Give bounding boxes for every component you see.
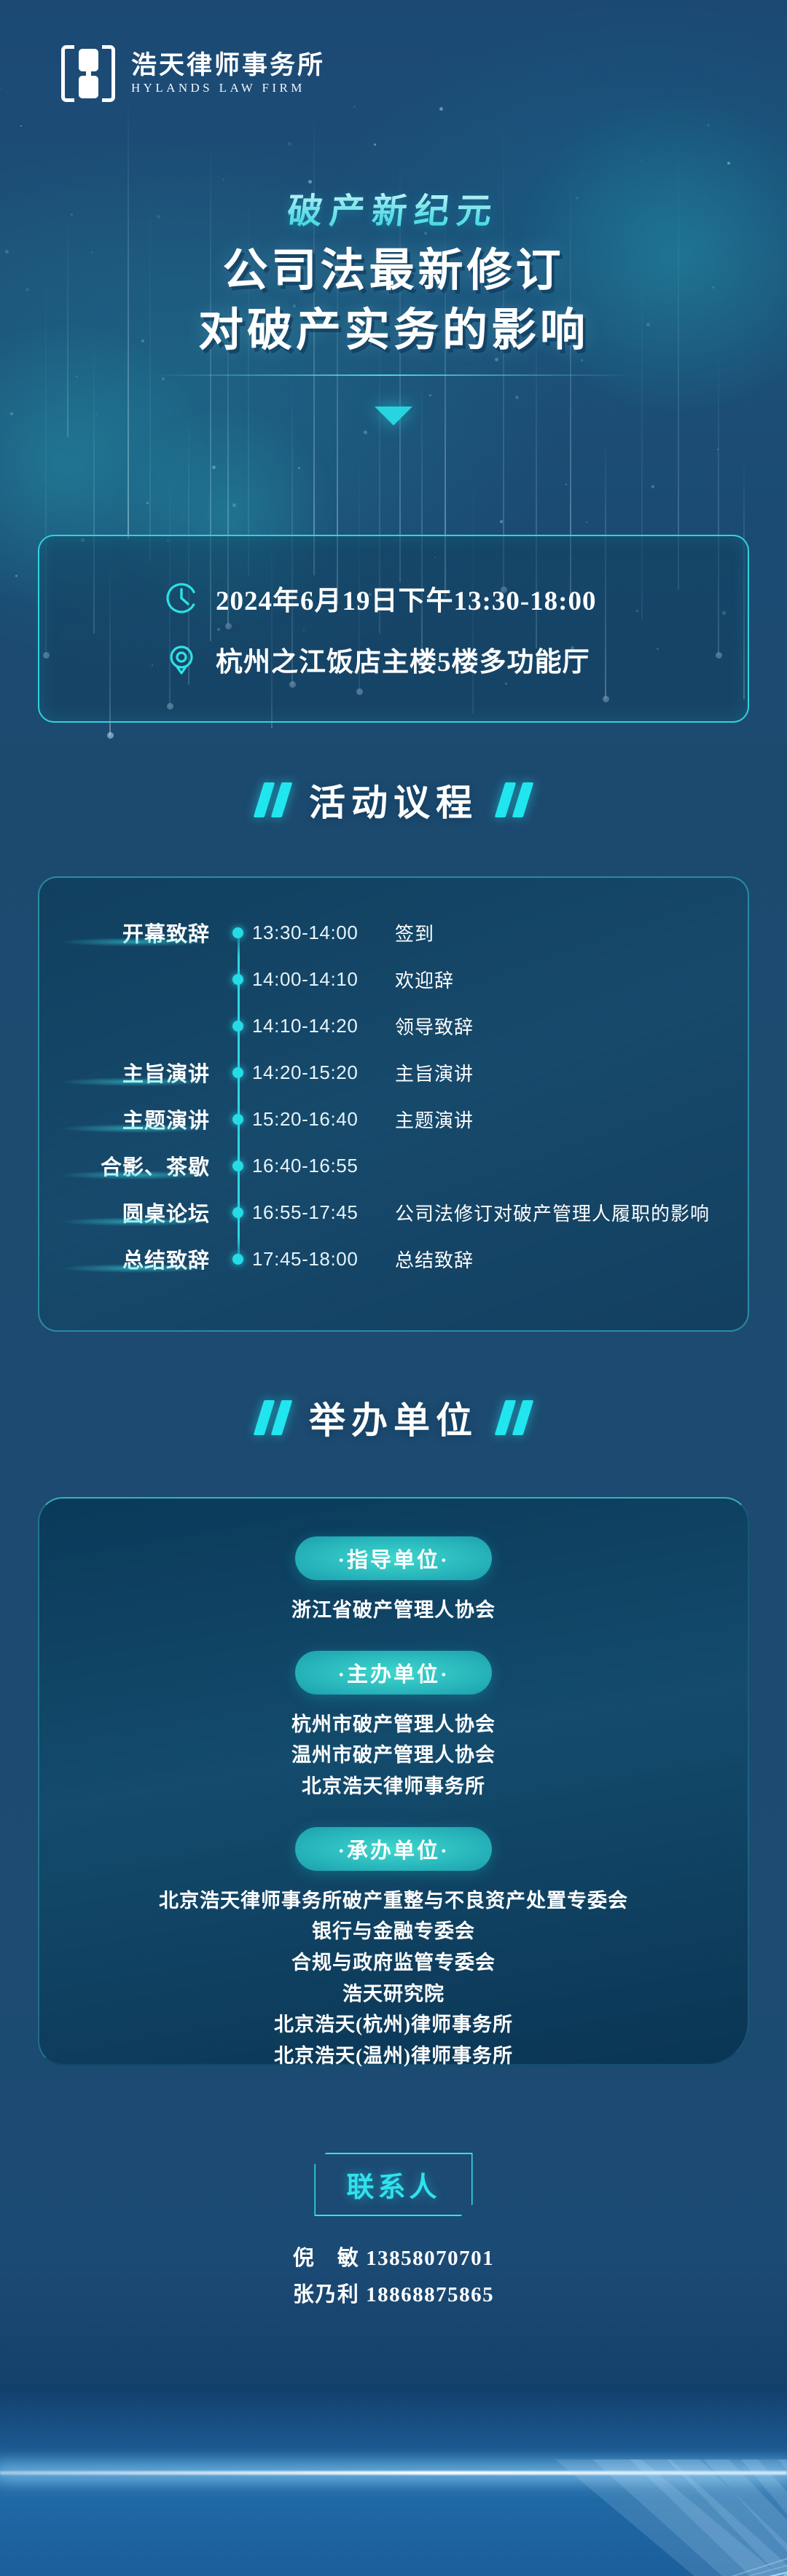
clock-icon xyxy=(165,581,198,615)
agenda-row-time: 16:40-16:55 xyxy=(252,1155,395,1177)
agenda-row: 14:00-14:10欢迎辞 xyxy=(39,958,748,1000)
host-organization-item: 北京浩天(杭州)律师事务所 xyxy=(38,2009,749,2041)
host-group-pill: ·主办单位· xyxy=(295,1651,491,1695)
slash-decoration-right-icon xyxy=(500,782,528,817)
host-group-pill: ·承办单位· xyxy=(295,1827,491,1871)
host-organization-item: 银行与金融专委会 xyxy=(38,1916,749,1947)
host-organization-item: 北京浩天律师事务所 xyxy=(38,1771,749,1802)
agenda-row: 主旨演讲14:20-15:20主旨演讲 xyxy=(39,1051,748,1093)
hylands-h-mark-icon xyxy=(61,45,115,102)
agenda-row-desc: 欢迎辞 xyxy=(395,966,454,993)
host-group-pill: ·指导单位· xyxy=(295,1536,491,1580)
host-organization-item: 浩天研究院 xyxy=(38,1979,749,2010)
spark-decoration xyxy=(222,178,224,181)
footer-light-ray xyxy=(0,2561,787,2576)
agenda-row-time: 13:30-14:00 xyxy=(252,922,395,944)
brand-name-cn: 浩天律师事务所 xyxy=(131,52,325,79)
agenda-row-desc: 总结致辞 xyxy=(395,1246,474,1273)
spark-decoration xyxy=(288,142,291,146)
event-datetime-row: 2024年6月19日下午13:30-18:00 xyxy=(165,578,748,618)
brand-logo: 浩天律师事务所 HYLANDS LAW FIRM xyxy=(61,45,325,102)
slash-decoration-left-icon xyxy=(259,782,287,817)
agenda-row: 主题演讲15:20-16:40主题演讲 xyxy=(39,1098,748,1140)
agenda-heading-text: 活动议程 xyxy=(309,774,478,826)
contact-person-name: 张乃利 xyxy=(293,2283,360,2306)
agenda-timeline-dot-icon xyxy=(223,1021,252,1032)
spark-decoration xyxy=(717,449,719,450)
spark-decoration xyxy=(374,144,376,146)
agenda-row-desc: 主题演讲 xyxy=(395,1106,474,1133)
contact-person-name: 倪 敏 xyxy=(293,2247,360,2270)
agenda-row-desc: 签到 xyxy=(395,919,434,946)
agenda-row-time: 14:00-14:10 xyxy=(252,968,395,991)
slash-decoration-left-icon xyxy=(259,1400,287,1435)
spark-decoration xyxy=(586,522,587,523)
agenda-timeline-dot-icon xyxy=(223,974,252,985)
event-location: 杭州之江饭店主楼5楼多功能厅 xyxy=(216,640,590,679)
footer-light-ray xyxy=(0,2553,787,2576)
footer-light-ray xyxy=(0,2570,787,2576)
agenda-row: 总结致辞17:45-18:00总结致辞 xyxy=(39,1238,748,1280)
agenda-timeline-dot-icon xyxy=(223,1114,252,1125)
brand-name-en: HYLANDS LAW FIRM xyxy=(131,82,325,95)
contact-section: 联系人 倪 敏 13858070701张乃利 18868875865 xyxy=(0,2153,787,2314)
contact-heading: 联系人 xyxy=(314,2153,472,2216)
hero-underline-divider xyxy=(153,374,634,376)
slash-decoration-right-icon xyxy=(500,1400,528,1435)
event-info-card: 2024年6月19日下午13:30-18:00 杭州之江饭店主楼5楼多功能厅 xyxy=(38,535,749,723)
agenda-row-label: 开幕致辞 xyxy=(39,917,223,948)
spark-decoration xyxy=(364,431,367,434)
event-poster: 浩天律师事务所 HYLANDS LAW FIRM 破产新纪元 公司法最新修订 对… xyxy=(0,0,787,2576)
hero-title-line-1: 公司法最新修订 xyxy=(0,242,787,302)
agenda-row-time: 14:20-15:20 xyxy=(252,1061,395,1084)
footer-light-ray xyxy=(0,2570,787,2576)
rain-dot-decoration xyxy=(107,732,114,739)
agenda-row-time: 14:10-14:20 xyxy=(252,1015,395,1037)
host-organization-item: 温州市破产管理人协会 xyxy=(38,1740,749,1771)
agenda-row: 开幕致辞13:30-14:00签到 xyxy=(39,911,748,954)
spark-decoration xyxy=(500,520,503,523)
host-organization-item: 浙江省破产管理人协会 xyxy=(38,1595,749,1626)
hero-title-line-2: 对破产实务的影响 xyxy=(0,302,787,361)
contact-person-phone: 13858070701 xyxy=(359,2247,494,2270)
spark-decoration xyxy=(651,485,654,488)
agenda-timeline-dot-icon xyxy=(223,1161,252,1171)
agenda-timeline-dot-icon xyxy=(223,1067,252,1078)
spark-decoration xyxy=(353,106,356,108)
agenda-row: 14:10-14:20领导致辞 xyxy=(39,1005,748,1047)
agenda-row: 圆桌论坛16:55-17:45公司法修订对破产管理人履职的影响 xyxy=(39,1191,748,1233)
host-group-list: 北京浩天律师事务所破产重整与不良资产处置专委会银行与金融专委会合规与政府监管专委… xyxy=(38,1885,749,2072)
agenda-card: 开幕致辞13:30-14:00签到14:00-14:10欢迎辞14:10-14:… xyxy=(38,876,749,1332)
location-pin-icon xyxy=(165,643,198,676)
footer-light-ray xyxy=(0,2570,787,2576)
host-group-list: 浙江省破产管理人协会 xyxy=(38,1595,749,1626)
agenda-row-time: 15:20-16:40 xyxy=(252,1108,395,1131)
host-organization-item: 合规与政府监管专委会 xyxy=(38,1947,749,1979)
agenda-row-desc: 主旨演讲 xyxy=(395,1059,474,1086)
contact-person: 张乃利 18868875865 xyxy=(0,2277,787,2314)
agenda-row-label: 总结致辞 xyxy=(39,1244,223,1274)
event-location-row: 杭州之江饭店主楼5楼多功能厅 xyxy=(165,640,748,679)
host-group-list: 杭州市破产管理人协会温州市破产管理人协会北京浩天律师事务所 xyxy=(38,1709,749,1802)
footer-light-ray xyxy=(0,2561,787,2576)
hosts-heading-text: 举办单位 xyxy=(309,1391,478,1444)
host-organization-item: 杭州市破产管理人协会 xyxy=(38,1709,749,1740)
agenda-timeline-dot-icon xyxy=(223,1207,252,1218)
spark-decoration xyxy=(439,107,443,111)
event-datetime: 2024年6月19日下午13:30-18:00 xyxy=(216,578,596,618)
agenda-timeline-dot-icon xyxy=(223,927,252,938)
agenda-timeline-dot-icon xyxy=(223,1254,252,1265)
host-organization-item: 北京浩天(温州)律师事务所 xyxy=(38,2041,749,2072)
agenda-heading: 活动议程 xyxy=(0,774,787,826)
hero-section: 破产新纪元 公司法最新修订 对破产实务的影响 xyxy=(0,182,787,425)
spark-decoration xyxy=(0,87,1,89)
spark-decoration xyxy=(20,125,22,127)
hero-kicker: 破产新纪元 xyxy=(0,182,787,233)
contact-person-phone: 18868875865 xyxy=(359,2283,494,2306)
agenda-row-label: 合影、茶歇 xyxy=(39,1150,223,1181)
agenda-row-label: 圆桌论坛 xyxy=(39,1197,223,1228)
agenda-row-desc: 公司法修订对破产管理人履职的影响 xyxy=(395,1199,710,1226)
agenda-row-desc: 领导致辞 xyxy=(395,1013,474,1040)
hosts-heading: 举办单位 xyxy=(0,1391,787,1444)
spark-decoration xyxy=(565,484,567,485)
chevron-down-icon xyxy=(375,407,412,425)
agenda-row-label: 主题演讲 xyxy=(39,1104,223,1134)
host-organization-item: 北京浩天律师事务所破产重整与不良资产处置专委会 xyxy=(38,1885,749,1917)
agenda-row: 合影、茶歇16:40-16:55 xyxy=(39,1144,748,1187)
contact-person: 倪 敏 13858070701 xyxy=(0,2241,787,2277)
hosts-card: ·指导单位·浙江省破产管理人协会·主办单位·杭州市破产管理人协会温州市破产管理人… xyxy=(38,1497,749,2065)
agenda-row-time: 16:55-17:45 xyxy=(252,1201,395,1224)
agenda-row-time: 17:45-18:00 xyxy=(252,1248,395,1271)
agenda-row-label: 主旨演讲 xyxy=(39,1057,223,1088)
footer-perspective-decoration xyxy=(0,2385,787,2576)
